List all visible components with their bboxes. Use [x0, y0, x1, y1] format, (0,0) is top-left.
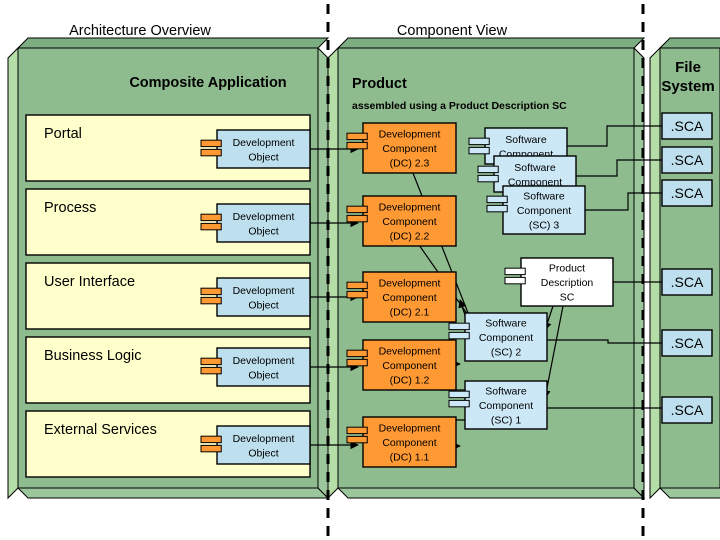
development-component-dc-2-1[interactable]: DevelopmentComponent(DC) 2.1 — [347, 272, 456, 322]
development-component-dc-2-3-line2: Component — [382, 143, 436, 155]
layer-label-user-interface: User Interface — [44, 274, 135, 290]
software-component-sc-1-line1: Software — [485, 386, 527, 398]
development-component-dc-1-1[interactable]: DevelopmentComponent(DC) 1.1 — [347, 417, 456, 467]
development-component-dc-2-2-line3: (DC) 2.2 — [390, 231, 430, 243]
development-component-dc-1-2-line2: Component — [382, 360, 436, 372]
development-object-dev-obj-3[interactable]: DevelopmentObject — [201, 278, 310, 316]
sca-file-label-sca-5: .SCA — [671, 335, 704, 351]
column-title-architecture-overview: Architecture Overview — [69, 23, 211, 39]
software-component-sc-1-line3: (SC) 1 — [491, 415, 521, 427]
layer-label-process: Process — [44, 200, 96, 216]
architecture-diagram: PortalProcessUser InterfaceBusiness Logi… — [0, 0, 720, 540]
sca-file-sca-1[interactable]: .SCA — [662, 113, 712, 139]
panel-title-product: Product — [352, 76, 407, 92]
software-component-sc-2-line3: (SC) 2 — [491, 347, 521, 359]
development-component-dc-1-2-line1: Development — [379, 346, 441, 358]
development-component-dc-1-1-line2: Component — [382, 437, 436, 449]
development-component-dc-1-2-line3: (DC) 1.2 — [390, 375, 430, 387]
sca-file-label-sca-3: .SCA — [671, 185, 704, 201]
sca-file-label-sca-2: .SCA — [671, 152, 704, 168]
software-component-sc-1-line2: Component — [479, 400, 533, 412]
software-component-sc-top-line1: Software — [505, 134, 547, 146]
panel-title-composite-application: Composite Application — [129, 75, 286, 91]
development-component-dc-2-2[interactable]: DevelopmentComponent(DC) 2.2 — [347, 196, 456, 246]
product-description-sc-line1: Product — [549, 263, 585, 275]
development-object-dev-obj-4-line2: Object — [248, 369, 278, 381]
development-component-dc-1-2[interactable]: DevelopmentComponent(DC) 1.2 — [347, 340, 456, 390]
development-component-dc-2-2-line1: Development — [379, 202, 441, 214]
development-object-dev-obj-3-line2: Object — [248, 299, 278, 311]
software-component-sc-2-line2: Component — [479, 332, 533, 344]
product-description-sc[interactable]: ProductDescriptionSC — [505, 258, 613, 306]
development-component-dc-2-1-line3: (DC) 2.1 — [390, 307, 430, 319]
sca-file-sca-2[interactable]: .SCA — [662, 147, 712, 173]
development-object-dev-obj-5[interactable]: DevelopmentObject — [201, 426, 310, 464]
layer-label-portal: Portal — [44, 126, 82, 142]
sca-file-sca-4[interactable]: .SCA — [662, 269, 712, 295]
development-object-dev-obj-2-line1: Development — [233, 211, 295, 223]
development-object-dev-obj-4[interactable]: DevelopmentObject — [201, 348, 310, 386]
panel-file-system — [650, 38, 720, 498]
panel-title-file-system-line1: File — [675, 59, 701, 76]
sca-file-label-sca-6: .SCA — [671, 402, 704, 418]
diagram-canvas: PortalProcessUser InterfaceBusiness Logi… — [0, 0, 720, 540]
development-object-dev-obj-2[interactable]: DevelopmentObject — [201, 204, 310, 242]
development-object-dev-obj-1[interactable]: DevelopmentObject — [201, 130, 310, 168]
development-object-dev-obj-5-line1: Development — [233, 433, 295, 445]
layer-label-business-logic: Business Logic — [44, 348, 142, 364]
panel-subtitle-product: assembled using a Product Description SC — [352, 100, 567, 112]
development-component-dc-2-1-line1: Development — [379, 278, 441, 290]
sca-file-sca-6[interactable]: .SCA — [662, 397, 712, 423]
development-component-dc-2-3-line3: (DC) 2.3 — [390, 158, 430, 170]
development-component-dc-1-1-line3: (DC) 1.1 — [390, 452, 430, 464]
software-component-sc-3-line1: Software — [523, 191, 565, 203]
product-description-sc-line2: Description — [541, 277, 594, 289]
development-component-dc-2-2-line2: Component — [382, 216, 436, 228]
sca-file-sca-5[interactable]: .SCA — [662, 330, 712, 356]
development-component-dc-2-3[interactable]: DevelopmentComponent(DC) 2.3 — [347, 123, 456, 173]
development-object-dev-obj-1-line1: Development — [233, 137, 295, 149]
development-component-dc-2-3-line1: Development — [379, 129, 441, 141]
development-component-dc-2-1-line2: Component — [382, 292, 436, 304]
sca-file-label-sca-4: .SCA — [671, 274, 704, 290]
sca-file-label-sca-1: .SCA — [671, 118, 704, 134]
software-component-sc-2-line1: Software — [485, 318, 527, 330]
panel-title-file-system-line2: System — [661, 78, 714, 95]
product-description-sc-line3: SC — [560, 292, 575, 304]
development-object-dev-obj-5-line2: Object — [248, 447, 278, 459]
sca-file-sca-3[interactable]: .SCA — [662, 180, 712, 206]
software-component-sc-3-line3: (SC) 3 — [529, 220, 559, 232]
software-component-sc-3-line2: Component — [517, 205, 571, 217]
layer-label-external-services: External Services — [44, 422, 157, 438]
column-title-component-view: Component View — [397, 23, 508, 39]
development-object-dev-obj-1-line2: Object — [248, 151, 278, 163]
development-object-dev-obj-2-line2: Object — [248, 225, 278, 237]
development-object-dev-obj-4-line1: Development — [233, 355, 295, 367]
software-component-sc-mid-line1: Software — [514, 162, 556, 174]
development-component-dc-1-1-line1: Development — [379, 423, 441, 435]
development-object-dev-obj-3-line1: Development — [233, 285, 295, 297]
